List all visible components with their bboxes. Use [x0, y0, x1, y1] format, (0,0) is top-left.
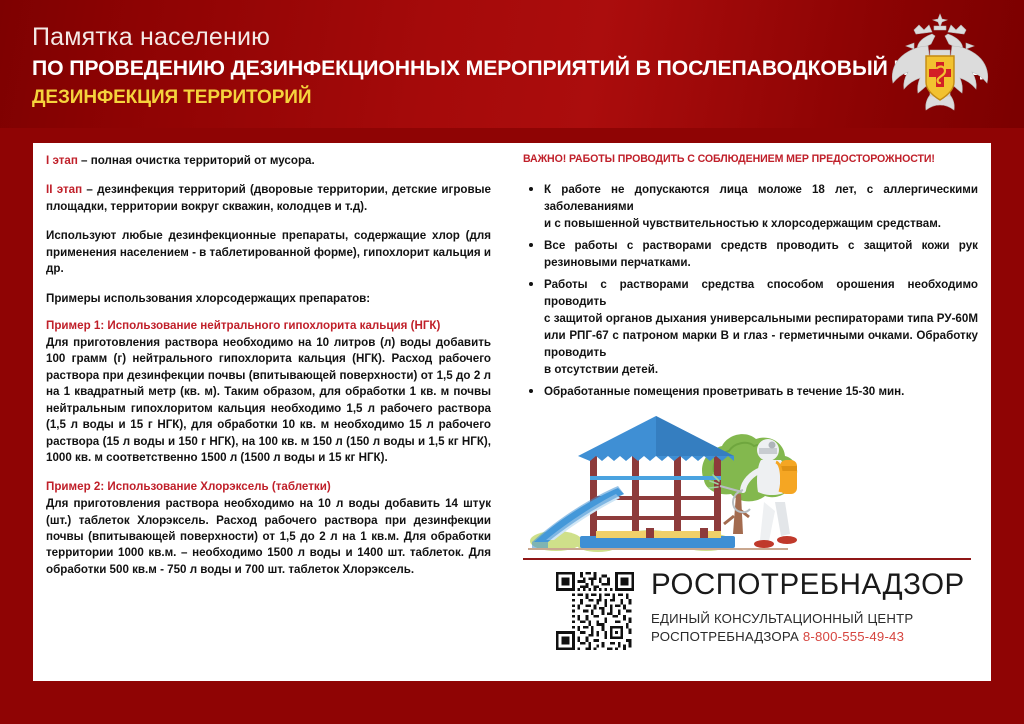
page-title-topic: ДЕЗИНФЕКЦИЯ ТЕРРИТОРИЙ	[32, 88, 852, 109]
bullet-main-text: Все работы с растворами средств проводит…	[544, 239, 978, 269]
bullet-main-text: Работы с растворами средства способом ор…	[544, 278, 978, 308]
brand-sub-line-2: РОСПОТРЕБНАДЗОРА 8-800-555-49-43	[651, 628, 971, 646]
brand-sub-prefix: РОСПОТРЕБНАДЗОРА	[651, 629, 803, 644]
precautions-list: К работе не допускаются лица моложе 18 л…	[523, 181, 978, 400]
page-title-subtitle: Памятка населению	[32, 24, 852, 51]
list-item: Работы с растворами средства способом ор…	[523, 276, 978, 378]
page-title-main: ПО ПРОВЕДЕНИЮ ДЕЗИНФЕКЦИОННЫХ МЕРОПРИЯТИ…	[32, 57, 840, 81]
hotline-phone-number[interactable]: 8-800-555-49-43	[803, 629, 904, 644]
bullet-sub-text: и с повышенной чувствительностью к хлорс…	[544, 215, 978, 232]
bullet-dot-icon	[529, 187, 533, 191]
double-headed-eagle-icon	[884, 10, 996, 120]
content-panel: I этап – полная очистка территорий от му…	[33, 143, 991, 681]
stage-2-text: – дезинфекция территорий (дворовые терри…	[46, 183, 491, 212]
content-columns: I этап – полная очистка территорий от му…	[33, 143, 991, 681]
bullet-dot-icon	[529, 282, 533, 286]
left-column: I этап – полная очистка территорий от му…	[46, 153, 491, 591]
bullet-sub-text: с защитой органов дыхания универсальными…	[544, 310, 978, 361]
poster-root: Памятка населению ПО ПРОВЕДЕНИЮ ДЕЗИНФЕК…	[0, 0, 1024, 724]
stage-1-label: I этап	[46, 154, 78, 167]
bullet-main-text: К работе не допускаются лица моложе 18 л…	[544, 183, 978, 213]
important-heading: ВАЖНО! РАБОТЫ ПРОВОДИТЬ С СОБЛЮДЕНИЕМ МЕ…	[523, 153, 978, 167]
poster-header: Памятка населению ПО ПРОВЕДЕНИЮ ДЕЗИНФЕК…	[0, 0, 1024, 128]
footer-divider	[523, 558, 971, 560]
list-item: К работе не допускаются лица моложе 18 л…	[523, 181, 978, 232]
example-2-title: Пример 2: Использование Хлорэксель (табл…	[46, 479, 491, 495]
stage-2-paragraph: II этап – дезинфекция территорий (дворов…	[46, 182, 491, 215]
example-1-body: Для приготовления раствора необходимо на…	[46, 335, 491, 467]
playground-disinfection-illustration	[528, 398, 828, 558]
sandbox	[580, 528, 735, 548]
preparations-paragraph: Используют любые дезинфекционные препара…	[46, 228, 491, 277]
stage-2-label: II этап	[46, 183, 82, 196]
example-2-body: Для приготовления раствора необходимо на…	[46, 496, 491, 578]
brand-text-group: РОСПОТРЕБНАДЗОР ЕДИНЫЙ КОНСУЛЬТАЦИОННЫЙ …	[651, 570, 971, 646]
right-column: ВАЖНО! РАБОТЫ ПРОВОДИТЬ С СОБЛЮДЕНИЕМ МЕ…	[523, 153, 978, 405]
bullet-main-text: Обработанные помещения проветривать в те…	[544, 385, 904, 398]
stage-1-text: – полная очистка территорий от мусора.	[78, 154, 315, 167]
stage-1-paragraph: I этап – полная очистка территорий от му…	[46, 153, 491, 169]
playground-structure	[578, 416, 734, 540]
bullet-sub-text-2: в отсутствии детей.	[544, 361, 978, 378]
examples-intro: Примеры использования хлорсодержащих пре…	[46, 291, 491, 307]
qr-code[interactable]	[556, 572, 634, 650]
header-title-group: Памятка населению ПО ПРОВЕДЕНИЮ ДЕЗИНФЕК…	[32, 24, 852, 109]
list-item: Все работы с растворами средств проводит…	[523, 237, 978, 271]
brand-name: РОСПОТРЕБНАДЗОР	[651, 570, 971, 601]
bullet-dot-icon	[529, 243, 533, 247]
footer-logo-block: РОСПОТРЕБНАДЗОР ЕДИНЫЙ КОНСУЛЬТАЦИОННЫЙ …	[556, 570, 976, 665]
bullet-dot-icon	[529, 389, 533, 393]
example-1-title: Пример 1: Использование нейтрального гип…	[46, 318, 491, 334]
brand-sub-line-1: ЕДИНЫЙ КОНСУЛЬТАЦИОННЫЙ ЦЕНТР	[651, 610, 971, 628]
